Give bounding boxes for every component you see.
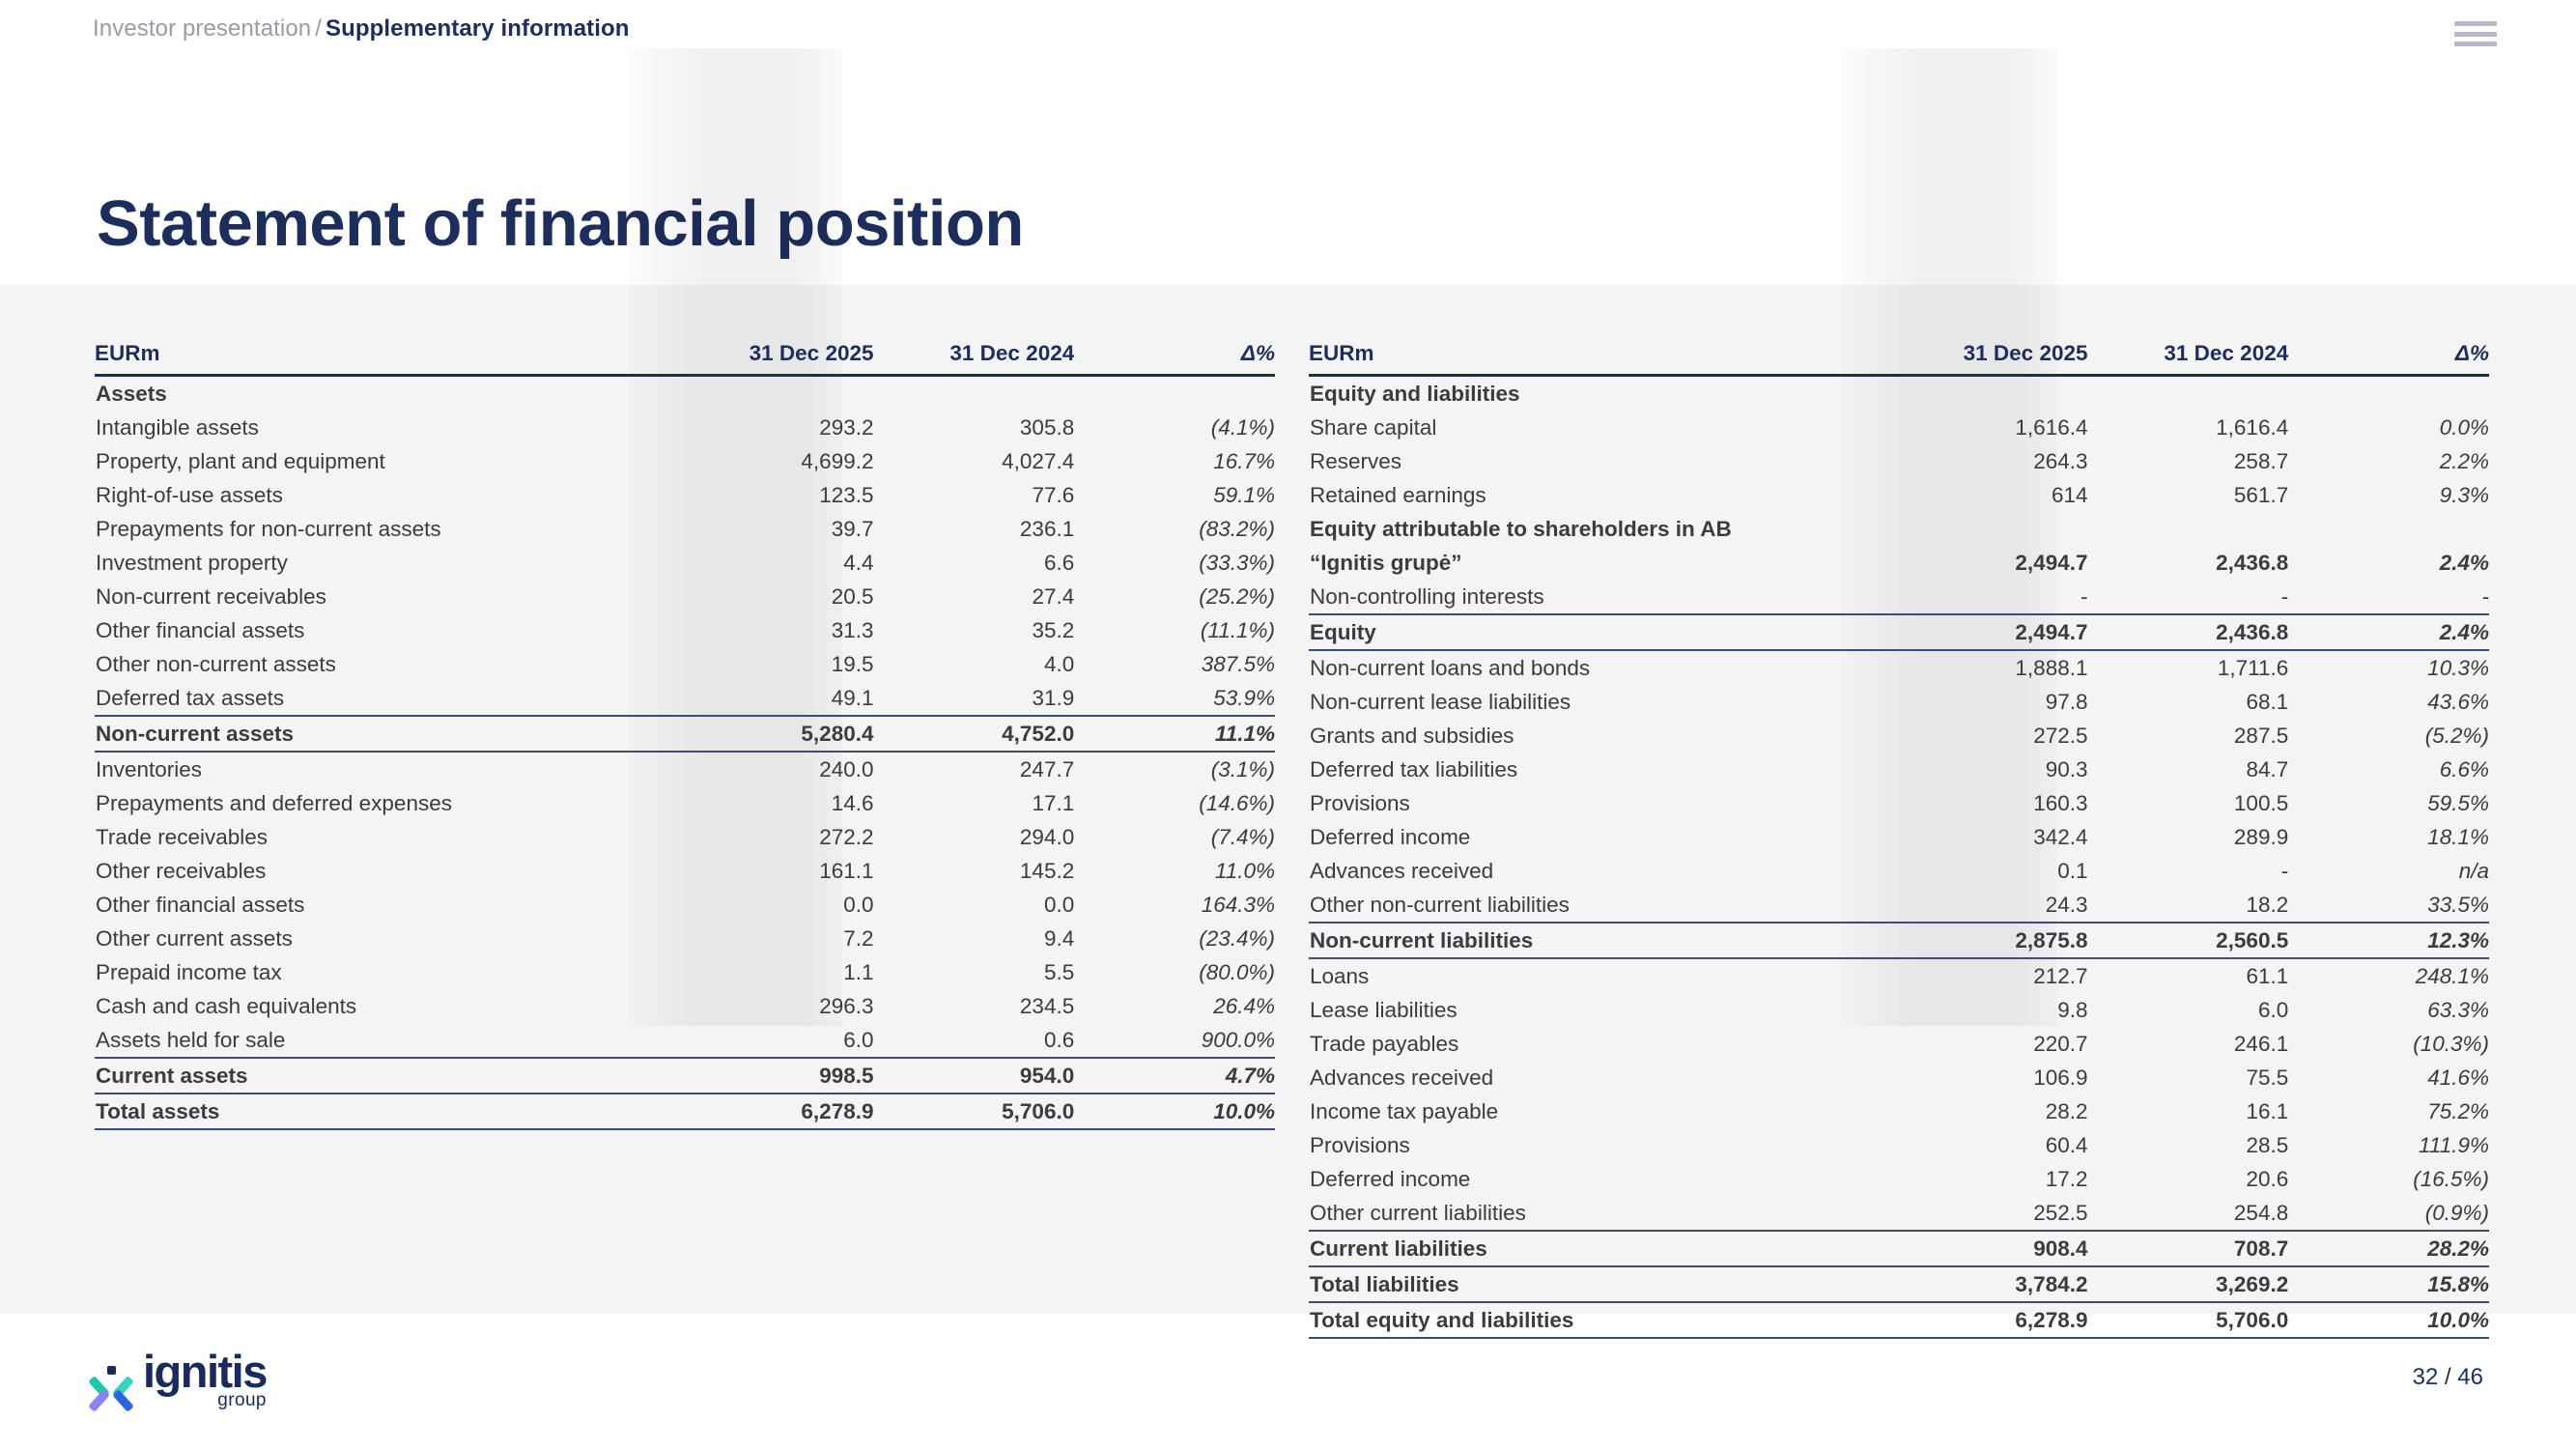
row-value-2024: 4,027.4	[874, 444, 1075, 478]
table-row: Trade receivables272.2294.0(7.4%)	[95, 820, 1275, 854]
row-value-2025: -	[1887, 580, 2088, 614]
row-delta: 15.8%	[2288, 1266, 2489, 1302]
row-label: Share capital	[1309, 411, 1887, 444]
row-label: Lease liabilities	[1309, 993, 1887, 1027]
row-label: Current liabilities	[1309, 1231, 1887, 1266]
row-value-2024: 254.8	[2088, 1196, 2289, 1231]
table-row: Intangible assets293.2305.8(4.1%)	[95, 411, 1275, 444]
row-label: Deferred tax assets	[95, 681, 673, 716]
row-delta: -	[2288, 580, 2489, 614]
row-value-2024: 258.7	[2088, 444, 2289, 478]
table-row: Non-current liabilities2,875.82,560.512.…	[1309, 923, 2489, 958]
row-delta: 164.3%	[1074, 888, 1275, 922]
column-header-delta: Δ%	[1074, 333, 1275, 376]
row-value-2024: 1,616.4	[2088, 411, 2289, 444]
page-indicator: 32 / 46	[2413, 1364, 2483, 1391]
row-value-2024: 2,560.5	[2088, 923, 2289, 958]
row-label: Assets	[95, 376, 673, 412]
row-delta: 43.6%	[2288, 685, 2489, 719]
row-value-2024: 0.6	[874, 1023, 1075, 1058]
column-header-2024: 31 Dec 2024	[874, 333, 1075, 376]
row-value-2024: 294.0	[874, 820, 1075, 854]
table-row: Current liabilities908.4708.728.2%	[1309, 1231, 2489, 1266]
row-delta: 4.7%	[1074, 1058, 1275, 1094]
row-label: Prepaid income tax	[95, 955, 673, 989]
row-delta: 387.5%	[1074, 647, 1275, 681]
breadcrumb: Investor presentation/Supplementary info…	[93, 15, 630, 43]
row-value-2024: 31.9	[874, 681, 1075, 716]
row-delta: 41.6%	[2288, 1061, 2489, 1094]
row-value-2024: 84.7	[2088, 753, 2289, 786]
row-label: Right-of-use assets	[95, 478, 673, 512]
row-label: Equity and liabilities	[1309, 376, 1887, 412]
row-delta: 53.9%	[1074, 681, 1275, 716]
table-row: Provisions60.428.5111.9%	[1309, 1128, 2489, 1162]
table-row: Non-current loans and bonds1,888.11,711.…	[1309, 650, 2489, 685]
row-value-2025: 5,280.4	[673, 716, 874, 752]
table-row: Deferred tax liabilities90.384.76.6%	[1309, 753, 2489, 786]
row-delta: 0.0%	[2288, 411, 2489, 444]
row-label: Non-current assets	[95, 716, 673, 752]
row-value-2025: 272.5	[1887, 719, 2088, 753]
row-delta: 11.0%	[1074, 854, 1275, 888]
row-delta: (80.0%)	[1074, 955, 1275, 989]
table-row: Investment property4.46.6(33.3%)	[95, 546, 1275, 580]
row-delta: (4.1%)	[1074, 411, 1275, 444]
row-label: Other current liabilities	[1309, 1196, 1887, 1231]
row-value-2025: 14.6	[673, 786, 874, 820]
row-value-2025: 60.4	[1887, 1128, 2088, 1162]
table-row: Non-current lease liabilities97.868.143.…	[1309, 685, 2489, 719]
row-delta	[2288, 512, 2489, 546]
row-delta: (7.4%)	[1074, 820, 1275, 854]
column-header-delta: Δ%	[2288, 333, 2489, 376]
row-delta: 16.7%	[1074, 444, 1275, 478]
row-value-2025: 252.5	[1887, 1196, 2088, 1231]
row-value-2025: 998.5	[673, 1058, 874, 1094]
row-label: Total liabilities	[1309, 1266, 1887, 1302]
row-value-2025: 614	[1887, 478, 2088, 512]
row-label: Intangible assets	[95, 411, 673, 444]
table-row: “Ignitis grupė”2,494.72,436.82.4%	[1309, 546, 2489, 580]
row-label: Equity	[1309, 614, 1887, 650]
row-value-2025: 31.3	[673, 613, 874, 647]
row-delta: 6.6%	[2288, 753, 2489, 786]
row-value-2025: 6,278.9	[1887, 1302, 2088, 1338]
row-value-2025: 0.1	[1887, 854, 2088, 888]
table-row: Deferred income342.4289.918.1%	[1309, 820, 2489, 854]
row-delta: 248.1%	[2288, 958, 2489, 993]
row-value-2024: 234.5	[874, 989, 1075, 1023]
row-value-2025: 1,616.4	[1887, 411, 2088, 444]
table-row: Loans212.761.1248.1%	[1309, 958, 2489, 993]
row-label: Equity attributable to shareholders in A…	[1309, 512, 1887, 546]
row-value-2025: 220.7	[1887, 1027, 2088, 1061]
row-delta: 2.2%	[2288, 444, 2489, 478]
table-row: Income tax payable28.216.175.2%	[1309, 1094, 2489, 1128]
table-row: Trade payables220.7246.1(10.3%)	[1309, 1027, 2489, 1061]
row-value-2025: 19.5	[673, 647, 874, 681]
row-value-2024: 246.1	[2088, 1027, 2289, 1061]
row-label: Provisions	[1309, 1128, 1887, 1162]
row-label: Other receivables	[95, 854, 673, 888]
breadcrumb-parent[interactable]: Investor presentation	[93, 15, 311, 42]
row-value-2025: 20.5	[673, 580, 874, 613]
ignitis-x-mark-icon	[89, 1366, 133, 1410]
row-delta: 59.5%	[2288, 786, 2489, 820]
equity-and-liabilities-table-body: Equity and liabilitiesShare capital1,616…	[1309, 376, 2489, 1339]
row-value-2025: 342.4	[1887, 820, 2088, 854]
row-value-2025: 293.2	[673, 411, 874, 444]
row-value-2025: 3,784.2	[1887, 1266, 2088, 1302]
table-row: Non-current receivables20.527.4(25.2%)	[95, 580, 1275, 613]
table-row: Cash and cash equivalents296.3234.526.4%	[95, 989, 1275, 1023]
row-value-2024	[874, 376, 1075, 412]
table-row: Total assets6,278.95,706.010.0%	[95, 1094, 1275, 1129]
table-row: Total equity and liabilities6,278.95,706…	[1309, 1302, 2489, 1338]
row-value-2025: 1.1	[673, 955, 874, 989]
row-value-2025	[673, 376, 874, 412]
logo-text: ignitis	[143, 1350, 267, 1393]
row-label: Advances received	[1309, 854, 1887, 888]
row-label: Other non-current liabilities	[1309, 888, 1887, 923]
row-delta: 900.0%	[1074, 1023, 1275, 1058]
table-row: Prepayments for non-current assets39.723…	[95, 512, 1275, 546]
assets-table-header: EURm 31 Dec 2025 31 Dec 2024 Δ%	[95, 333, 1275, 376]
row-value-2024: 17.1	[874, 786, 1075, 820]
row-value-2025	[1887, 512, 2088, 546]
row-label: Inventories	[95, 752, 673, 786]
row-delta: 2.4%	[2288, 546, 2489, 580]
row-value-2024: 5.5	[874, 955, 1075, 989]
row-value-2024: -	[2088, 854, 2289, 888]
row-delta: 28.2%	[2288, 1231, 2489, 1266]
row-label: Total assets	[95, 1094, 673, 1129]
row-label: Provisions	[1309, 786, 1887, 820]
row-value-2025: 212.7	[1887, 958, 2088, 993]
row-value-2024: 5,706.0	[874, 1094, 1075, 1129]
row-value-2024: 2,436.8	[2088, 546, 2289, 580]
hamburger-menu-icon[interactable]	[2454, 21, 2497, 46]
column-header-unit: EURm	[1309, 333, 1887, 376]
row-delta: (3.1%)	[1074, 752, 1275, 786]
row-value-2024: 954.0	[874, 1058, 1075, 1094]
row-label: Advances received	[1309, 1061, 1887, 1094]
row-value-2024	[2088, 512, 2289, 546]
row-value-2024: 287.5	[2088, 719, 2289, 753]
column-header-2025: 31 Dec 2025	[1887, 333, 2088, 376]
row-label: Total equity and liabilities	[1309, 1302, 1887, 1338]
row-label: Retained earnings	[1309, 478, 1887, 512]
row-delta: 111.9%	[2288, 1128, 2489, 1162]
assets-table: EURm 31 Dec 2025 31 Dec 2024 Δ% AssetsIn…	[95, 333, 1275, 1130]
table-row: Equity attributable to shareholders in A…	[1309, 512, 2489, 546]
row-label: Other financial assets	[95, 888, 673, 922]
row-label: Cash and cash equivalents	[95, 989, 673, 1023]
row-delta: 59.1%	[1074, 478, 1275, 512]
hamburger-bar	[2454, 21, 2497, 26]
row-value-2025: 39.7	[673, 512, 874, 546]
row-label: Deferred income	[1309, 820, 1887, 854]
row-label: Non-current lease liabilities	[1309, 685, 1887, 719]
table-row: Inventories240.0247.7(3.1%)	[95, 752, 1275, 786]
row-value-2024: 289.9	[2088, 820, 2289, 854]
row-value-2024: 20.6	[2088, 1162, 2289, 1196]
row-delta: (83.2%)	[1074, 512, 1275, 546]
row-delta: (5.2%)	[2288, 719, 2489, 753]
row-value-2025: 1,888.1	[1887, 650, 2088, 685]
row-delta: 12.3%	[2288, 923, 2489, 958]
table-row: Other non-current liabilities24.318.233.…	[1309, 888, 2489, 923]
row-value-2024: 6.0	[2088, 993, 2289, 1027]
row-delta: 10.3%	[2288, 650, 2489, 685]
table-row: Prepaid income tax1.15.5(80.0%)	[95, 955, 1275, 989]
row-value-2024: 68.1	[2088, 685, 2289, 719]
table-row: Other financial assets0.00.0164.3%	[95, 888, 1275, 922]
assets-table-grid: EURm 31 Dec 2025 31 Dec 2024 Δ% AssetsIn…	[95, 333, 1275, 1130]
row-delta	[1074, 376, 1275, 412]
row-value-2025: 24.3	[1887, 888, 2088, 923]
row-value-2025: 908.4	[1887, 1231, 2088, 1266]
table-row: Non-controlling interests---	[1309, 580, 2489, 614]
row-value-2024: 27.4	[874, 580, 1075, 613]
row-value-2024: 35.2	[874, 613, 1075, 647]
table-row: Other financial assets31.335.2(11.1%)	[95, 613, 1275, 647]
row-value-2025: 2,875.8	[1887, 923, 2088, 958]
row-delta: 10.0%	[2288, 1302, 2489, 1338]
row-value-2024: 236.1	[874, 512, 1075, 546]
row-delta: (25.2%)	[1074, 580, 1275, 613]
row-value-2024: 3,269.2	[2088, 1266, 2289, 1302]
row-label: Property, plant and equipment	[95, 444, 673, 478]
table-row: Right-of-use assets123.577.659.1%	[95, 478, 1275, 512]
table-row: Other current assets7.29.4(23.4%)	[95, 922, 1275, 955]
row-label: Current assets	[95, 1058, 673, 1094]
row-value-2024	[2088, 376, 2289, 412]
row-label: Other financial assets	[95, 613, 673, 647]
row-delta: 75.2%	[2288, 1094, 2489, 1128]
row-label: Deferred tax liabilities	[1309, 753, 1887, 786]
table-row: Other non-current assets19.54.0387.5%	[95, 647, 1275, 681]
row-value-2024: 0.0	[874, 888, 1075, 922]
table-row: Share capital1,616.41,616.40.0%	[1309, 411, 2489, 444]
row-value-2024: 61.1	[2088, 958, 2289, 993]
row-label: Trade receivables	[95, 820, 673, 854]
row-delta: 26.4%	[1074, 989, 1275, 1023]
row-delta: (16.5%)	[2288, 1162, 2489, 1196]
table-row: Grants and subsidies272.5287.5(5.2%)	[1309, 719, 2489, 753]
row-value-2025: 2,494.7	[1887, 546, 2088, 580]
row-value-2025: 272.2	[673, 820, 874, 854]
hamburger-bar	[2454, 32, 2497, 37]
table-row: Retained earnings614561.79.3%	[1309, 478, 2489, 512]
row-label: Non-current loans and bonds	[1309, 650, 1887, 685]
equity-and-liabilities-table-header: EURm 31 Dec 2025 31 Dec 2024 Δ%	[1309, 333, 2489, 376]
row-value-2024: 75.5	[2088, 1061, 2289, 1094]
row-value-2024: 1,711.6	[2088, 650, 2289, 685]
row-value-2025: 161.1	[673, 854, 874, 888]
row-value-2024: 100.5	[2088, 786, 2289, 820]
hamburger-bar	[2454, 42, 2497, 46]
row-label: Income tax payable	[1309, 1094, 1887, 1128]
row-value-2025: 264.3	[1887, 444, 2088, 478]
table-row: Property, plant and equipment4,699.24,02…	[95, 444, 1275, 478]
table-header-row: EURm 31 Dec 2025 31 Dec 2024 Δ%	[1309, 333, 2489, 376]
row-value-2024: 145.2	[874, 854, 1075, 888]
table-row: Deferred income17.220.6(16.5%)	[1309, 1162, 2489, 1196]
row-value-2025	[1887, 376, 2088, 412]
row-value-2025: 240.0	[673, 752, 874, 786]
page-title: Statement of financial position	[97, 186, 1024, 261]
row-value-2024: 4,752.0	[874, 716, 1075, 752]
row-label: Assets held for sale	[95, 1023, 673, 1058]
row-label: Investment property	[95, 546, 673, 580]
breadcrumb-current: Supplementary information	[326, 15, 630, 42]
row-value-2024: 28.5	[2088, 1128, 2289, 1162]
row-delta: 2.4%	[2288, 614, 2489, 650]
row-value-2025: 160.3	[1887, 786, 2088, 820]
row-value-2025: 28.2	[1887, 1094, 2088, 1128]
row-value-2024: 9.4	[874, 922, 1075, 955]
row-value-2025: 106.9	[1887, 1061, 2088, 1094]
row-label: Non-current liabilities	[1309, 923, 1887, 958]
row-value-2025: 2,494.7	[1887, 614, 2088, 650]
table-row: Reserves264.3258.72.2%	[1309, 444, 2489, 478]
row-value-2024: -	[2088, 580, 2289, 614]
row-label: Deferred income	[1309, 1162, 1887, 1196]
row-delta: (10.3%)	[2288, 1027, 2489, 1061]
column-header-unit: EURm	[95, 333, 673, 376]
row-value-2024: 2,436.8	[2088, 614, 2289, 650]
assets-table-body: AssetsIntangible assets293.2305.8(4.1%)P…	[95, 376, 1275, 1130]
row-value-2024: 4.0	[874, 647, 1075, 681]
logo-wordmark: ignitis group	[143, 1350, 267, 1410]
row-label: Reserves	[1309, 444, 1887, 478]
row-delta	[2288, 376, 2489, 412]
table-row: Deferred tax assets49.131.953.9%	[95, 681, 1275, 716]
table-row: Equity and liabilities	[1309, 376, 2489, 412]
row-value-2025: 90.3	[1887, 753, 2088, 786]
row-value-2024: 305.8	[874, 411, 1075, 444]
table-row: Assets held for sale6.00.6900.0%	[95, 1023, 1275, 1058]
table-row: Lease liabilities9.86.063.3%	[1309, 993, 2489, 1027]
table-row: Other current liabilities252.5254.8(0.9%…	[1309, 1196, 2489, 1231]
row-label: Loans	[1309, 958, 1887, 993]
equity-and-liabilities-table: EURm 31 Dec 2025 31 Dec 2024 Δ% Equity a…	[1309, 333, 2489, 1339]
row-value-2025: 0.0	[673, 888, 874, 922]
row-value-2025: 49.1	[673, 681, 874, 716]
ignitis-group-logo: ignitis group	[89, 1350, 267, 1410]
row-label: Trade payables	[1309, 1027, 1887, 1061]
equity-and-liabilities-table-grid: EURm 31 Dec 2025 31 Dec 2024 Δ% Equity a…	[1309, 333, 2489, 1339]
row-value-2024: 16.1	[2088, 1094, 2289, 1128]
row-value-2025: 97.8	[1887, 685, 2088, 719]
row-label: “Ignitis grupė”	[1309, 546, 1887, 580]
table-row: Assets	[95, 376, 1275, 412]
row-value-2024: 6.6	[874, 546, 1075, 580]
logo-dot	[107, 1366, 116, 1375]
row-delta: (33.3%)	[1074, 546, 1275, 580]
row-value-2025: 17.2	[1887, 1162, 2088, 1196]
row-value-2025: 6,278.9	[673, 1094, 874, 1129]
column-header-2025: 31 Dec 2025	[673, 333, 874, 376]
row-value-2025: 9.8	[1887, 993, 2088, 1027]
row-label: Prepayments for non-current assets	[95, 512, 673, 546]
table-row: Prepayments and deferred expenses14.617.…	[95, 786, 1275, 820]
row-value-2025: 4,699.2	[673, 444, 874, 478]
row-delta: 10.0%	[1074, 1094, 1275, 1129]
row-value-2025: 296.3	[673, 989, 874, 1023]
table-header-row: EURm 31 Dec 2025 31 Dec 2024 Δ%	[95, 333, 1275, 376]
breadcrumb-separator: /	[311, 15, 326, 42]
row-delta: 11.1%	[1074, 716, 1275, 752]
row-value-2025: 6.0	[673, 1023, 874, 1058]
table-row: Non-current assets5,280.44,752.011.1%	[95, 716, 1275, 752]
row-delta: (11.1%)	[1074, 613, 1275, 647]
table-row: Advances received0.1-n/a	[1309, 854, 2489, 888]
row-value-2024: 5,706.0	[2088, 1302, 2289, 1338]
table-row: Total liabilities3,784.23,269.215.8%	[1309, 1266, 2489, 1302]
row-value-2024: 708.7	[2088, 1231, 2289, 1266]
row-delta: (14.6%)	[1074, 786, 1275, 820]
row-value-2024: 18.2	[2088, 888, 2289, 923]
row-label: Non-controlling interests	[1309, 580, 1887, 614]
table-row: Current assets998.5954.04.7%	[95, 1058, 1275, 1094]
row-label: Prepayments and deferred expenses	[95, 786, 673, 820]
row-delta: 9.3%	[2288, 478, 2489, 512]
column-header-2024: 31 Dec 2024	[2088, 333, 2289, 376]
table-row: Provisions160.3100.559.5%	[1309, 786, 2489, 820]
row-delta: 18.1%	[2288, 820, 2489, 854]
row-value-2025: 7.2	[673, 922, 874, 955]
row-delta: (23.4%)	[1074, 922, 1275, 955]
row-value-2024: 247.7	[874, 752, 1075, 786]
row-label: Non-current receivables	[95, 580, 673, 613]
row-value-2024: 77.6	[874, 478, 1075, 512]
table-row: Other receivables161.1145.211.0%	[95, 854, 1275, 888]
row-delta: 33.5%	[2288, 888, 2489, 923]
row-delta: (0.9%)	[2288, 1196, 2489, 1231]
row-value-2025: 123.5	[673, 478, 874, 512]
table-row: Advances received106.975.541.6%	[1309, 1061, 2489, 1094]
table-row: Equity2,494.72,436.82.4%	[1309, 614, 2489, 650]
row-delta: 63.3%	[2288, 993, 2489, 1027]
row-label: Other non-current assets	[95, 647, 673, 681]
row-value-2024: 561.7	[2088, 478, 2289, 512]
row-delta: n/a	[2288, 854, 2489, 888]
row-value-2025: 4.4	[673, 546, 874, 580]
row-label: Other current assets	[95, 922, 673, 955]
row-label: Grants and subsidies	[1309, 719, 1887, 753]
logo-bar-lower-left	[88, 1389, 110, 1412]
